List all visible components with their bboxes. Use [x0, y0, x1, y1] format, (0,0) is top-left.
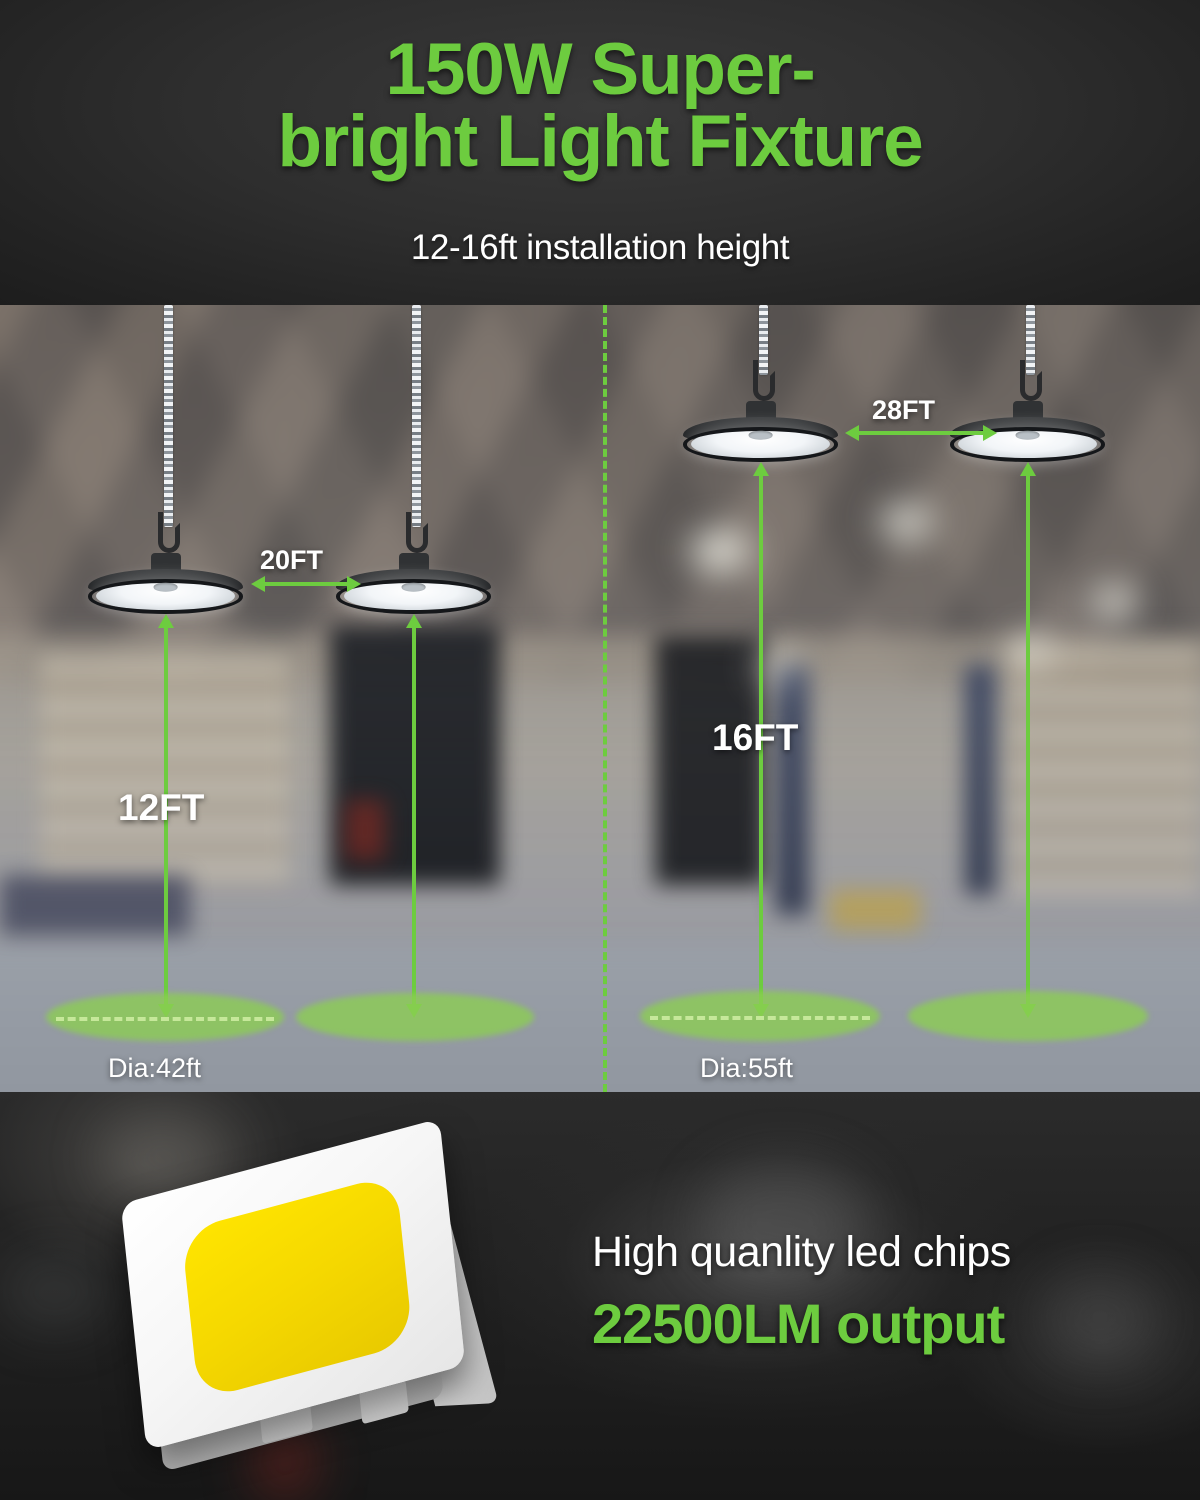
hook-left-1: [158, 523, 180, 553]
spacing-label-right: 28FT: [872, 395, 935, 426]
spacing-arrow-left: [264, 582, 348, 586]
fixture-center-marker: [153, 583, 178, 592]
title-line-2: bright Light Fixture: [0, 106, 1200, 178]
chain-right-2: [1026, 305, 1035, 375]
light-pool-diameter-line-right: [650, 1016, 870, 1020]
ceiling-lamp-glow-1: [690, 530, 750, 572]
hook-right-1: [753, 371, 775, 401]
background-highlight-4: [0, 1252, 110, 1332]
hook-right-2: [1020, 371, 1042, 401]
height-arrow-right-2: [1026, 475, 1030, 1005]
red-object-blur: [345, 800, 385, 860]
high-bay-fixture-left-1: [88, 553, 243, 619]
crate-blur: [0, 875, 190, 935]
shelving-blur-4: [1010, 645, 1200, 895]
page-subtitle: 12-16ft installation height: [0, 228, 1200, 268]
light-pool-diameter-line-left: [56, 1017, 274, 1021]
ceiling-lamp-glow-2: [880, 503, 932, 541]
lumen-output-label: 22500LM output: [592, 1291, 1152, 1356]
fixture-center-marker: [401, 583, 426, 592]
light-pool-right-2: [908, 991, 1148, 1041]
light-pool-left-2: [296, 993, 534, 1041]
high-bay-fixture-right-1: [683, 401, 838, 467]
height-label-left: 12FT: [118, 787, 204, 829]
fixture-center-marker: [748, 431, 773, 440]
height-label-right: 16FT: [712, 717, 798, 759]
hook-left-2: [406, 523, 428, 553]
scene-divider: [603, 305, 607, 1092]
led-chip-headline: High quanlity led chips: [592, 1228, 1152, 1277]
chain-left-1: [164, 305, 173, 527]
fixture-center-marker: [1015, 431, 1040, 440]
led-chip-graphic: [110, 1148, 530, 1478]
led-chip-copy: High quanlity led chips 22500LM output: [592, 1228, 1152, 1356]
spacing-label-left: 20FT: [260, 545, 323, 576]
installation-diagram: 20FT 12FT Dia:42ft 28FT: [0, 305, 1200, 1092]
product-infographic: 150W Super- bright Light Fixture 12-16ft…: [0, 0, 1200, 1500]
pallet-blur: [830, 890, 920, 930]
pool-label-right: Dia:55ft: [700, 1053, 793, 1084]
page-title: 150W Super- bright Light Fixture: [0, 34, 1200, 177]
ceiling-lamp-glow-4: [1010, 635, 1050, 665]
ceiling-lamp-glow-3: [1090, 585, 1138, 619]
spacing-arrow-right: [858, 431, 984, 435]
chain-right-1: [759, 305, 768, 375]
pool-label-left: Dia:42ft: [108, 1053, 201, 1084]
chip-phosphor-surface: [181, 1174, 413, 1401]
lift-column-blur: [775, 665, 809, 915]
lift-column-blur-2: [965, 665, 995, 895]
shelving-blur-3: [655, 635, 765, 885]
header-panel: 150W Super- bright Light Fixture 12-16ft…: [0, 0, 1200, 305]
title-line-1: 150W Super-: [386, 29, 815, 110]
height-arrow-left-2: [412, 627, 416, 1005]
chain-left-2: [412, 305, 421, 527]
